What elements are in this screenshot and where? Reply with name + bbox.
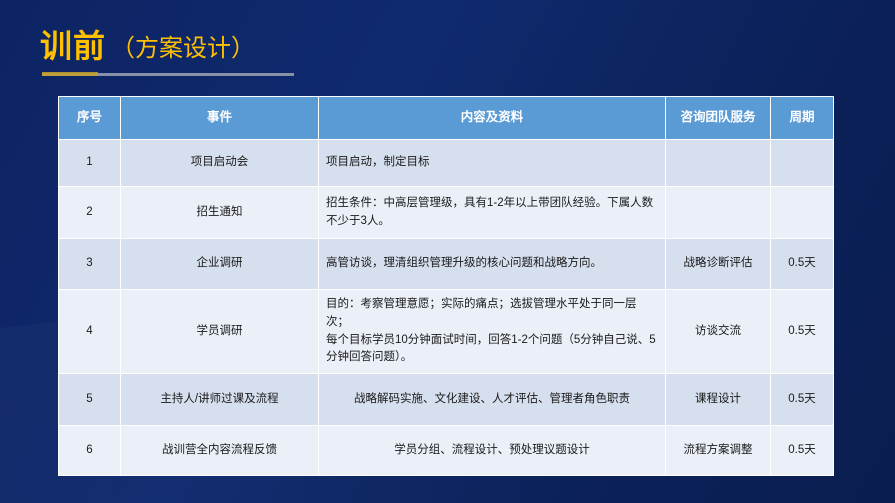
cell-cycle: 0.5天: [771, 239, 833, 289]
cell-event: 学员调研: [121, 290, 318, 373]
cell-event: 战训营全内容流程反馈: [121, 426, 318, 475]
cell-cycle: [771, 140, 833, 186]
column-header-body: 内容及资料: [319, 97, 665, 139]
cell-service: 课程设计: [666, 374, 770, 425]
cell-num: 2: [59, 187, 120, 238]
column-header-num: 序号: [59, 97, 120, 139]
slide-title-block: 训前 （方案设计）: [40, 18, 294, 76]
cell-num: 3: [59, 239, 120, 289]
cell-service: [666, 187, 770, 238]
cell-body: 高管访谈，理清组织管理升级的核心问题和战略方向。: [319, 239, 665, 289]
table-row: 1 项目启动会 项目启动，制定目标: [59, 140, 833, 186]
cell-event: 主持人/讲师过课及流程: [121, 374, 318, 425]
table-row: 4 学员调研 目的：考察管理意愿；实际的痛点；选拔管理水平处于同一层次； 每个目…: [59, 290, 833, 373]
column-header-cycle: 周期: [771, 97, 833, 139]
slide-canvas: 训前 （方案设计） 序号 事件 内容及资料 咨询团队服务 周期: [0, 0, 895, 503]
cell-cycle: [771, 187, 833, 238]
page-title: 训前: [40, 30, 106, 62]
cell-body: 学员分组、流程设计、预处理议题设计: [319, 426, 665, 475]
cell-cycle: 0.5天: [771, 290, 833, 373]
column-header-svc: 咨询团队服务: [666, 97, 770, 139]
table-row: 5 主持人/讲师过课及流程 战略解码实施、文化建设、人才评估、管理者角色职责 课…: [59, 374, 833, 425]
page-subtitle: （方案设计）: [111, 37, 255, 62]
cell-cycle: 0.5天: [771, 374, 833, 425]
title-divider: [42, 73, 294, 76]
cell-body: 战略解码实施、文化建设、人才评估、管理者角色职责: [319, 374, 665, 425]
cell-num: 6: [59, 426, 120, 475]
cell-event: 企业调研: [121, 239, 318, 289]
table-body: 1 项目启动会 项目启动，制定目标 2 招生通知 招生条件：中高层管理级，具有1…: [59, 140, 833, 475]
cell-body: 目的：考察管理意愿；实际的痛点；选拔管理水平处于同一层次； 每个目标学员10分钟…: [319, 290, 665, 373]
plan-table-container: 序号 事件 内容及资料 咨询团队服务 周期 1 项目启动会 项目启动，制定目标 …: [58, 96, 833, 476]
cell-body: 项目启动，制定目标: [319, 140, 665, 186]
cell-num: 5: [59, 374, 120, 425]
table-row: 6 战训营全内容流程反馈 学员分组、流程设计、预处理议题设计 流程方案调整 0.…: [59, 426, 833, 475]
column-header-event: 事件: [121, 97, 318, 139]
table-header: 序号 事件 内容及资料 咨询团队服务 周期: [59, 97, 833, 139]
table-row: 2 招生通知 招生条件：中高层管理级，具有1-2年以上带团队经验。下属人数不少于…: [59, 187, 833, 238]
cell-service: [666, 140, 770, 186]
cell-cycle: 0.5天: [771, 426, 833, 475]
cell-service: 流程方案调整: [666, 426, 770, 475]
cell-service: 访谈交流: [666, 290, 770, 373]
table-row: 3 企业调研 高管访谈，理清组织管理升级的核心问题和战略方向。 战略诊断评估 0…: [59, 239, 833, 289]
table-header-row: 序号 事件 内容及资料 咨询团队服务 周期: [59, 97, 833, 139]
cell-num: 1: [59, 140, 120, 186]
plan-table: 序号 事件 内容及资料 咨询团队服务 周期 1 项目启动会 项目启动，制定目标 …: [58, 96, 834, 476]
title-line: 训前 （方案设计）: [40, 18, 294, 62]
cell-service: 战略诊断评估: [666, 239, 770, 289]
cell-num: 4: [59, 290, 120, 373]
cell-event: 项目启动会: [121, 140, 318, 186]
cell-event: 招生通知: [121, 187, 318, 238]
cell-body: 招生条件：中高层管理级，具有1-2年以上带团队经验。下属人数不少于3人。: [319, 187, 665, 238]
